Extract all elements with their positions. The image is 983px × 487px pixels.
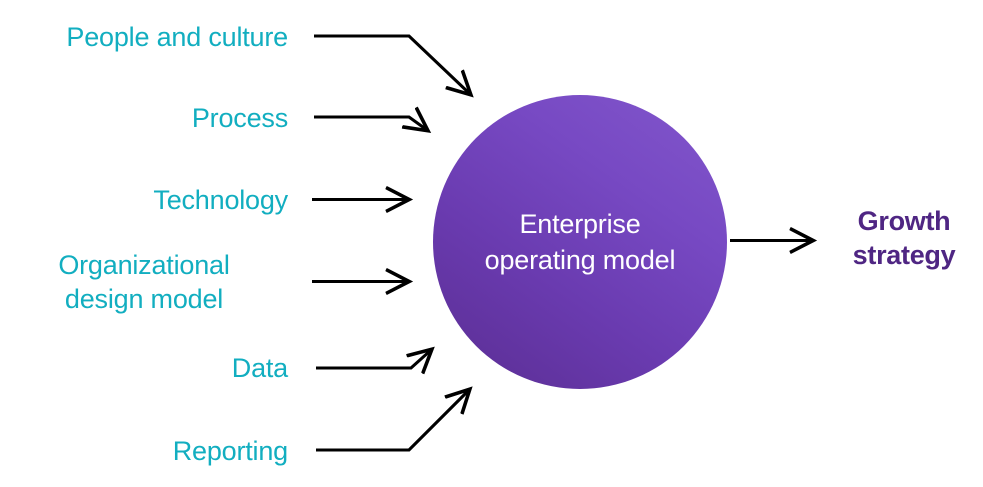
arrow-process [314, 117, 427, 130]
arrow-reporting [316, 390, 469, 450]
input-label-reporting: Reporting [0, 434, 288, 468]
enterprise-operating-model-node: Enterprise operating model [433, 95, 727, 389]
input-label-organizational-design-model: Organizational design model [0, 248, 288, 316]
arrow-people-and-culture [314, 36, 470, 94]
enterprise-operating-model-label: Enterprise operating model [433, 95, 727, 389]
input-label-technology: Technology [0, 183, 288, 217]
input-label-process: Process [0, 101, 288, 135]
input-label-people-and-culture: People and culture [0, 20, 288, 54]
arrow-data [316, 350, 431, 368]
growth-strategy-label: Growth strategy [828, 204, 980, 272]
diagram-canvas: People and culture Process Technology Or… [0, 0, 983, 487]
input-label-data: Data [0, 351, 288, 385]
